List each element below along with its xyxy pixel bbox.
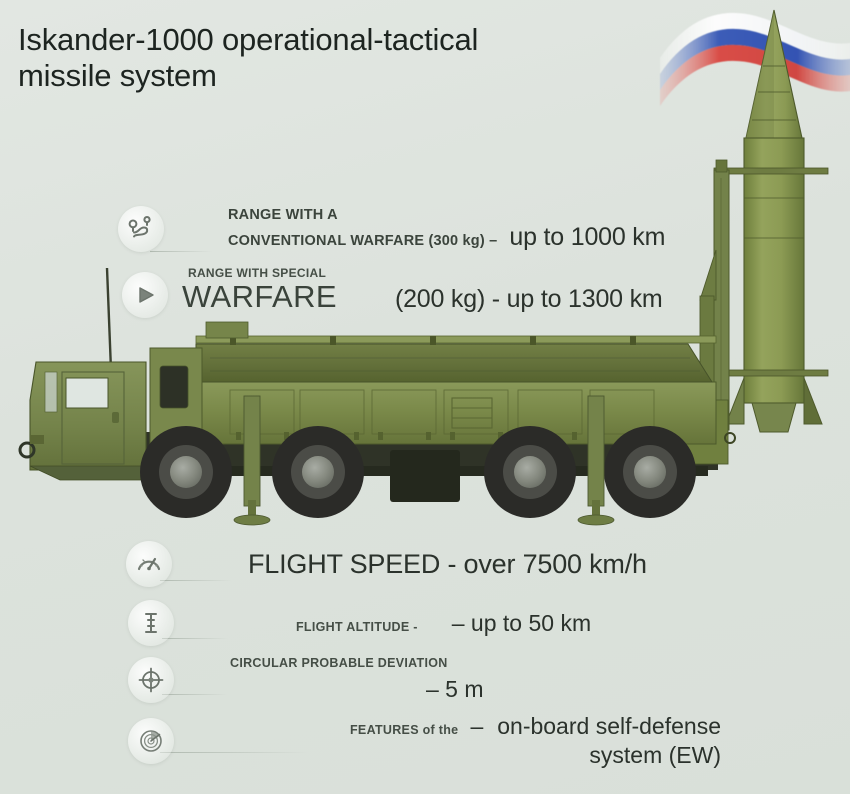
spec-value-features-line-1: on-board self-defense xyxy=(497,713,721,740)
spec-label-line-1: RANGE WITH A xyxy=(228,207,665,223)
infographic-poster: Iskander-1000 operational-tactical missi… xyxy=(0,0,850,794)
crosshair-target-icon xyxy=(128,657,174,703)
play-triangle-icon xyxy=(122,272,168,318)
rear-deck xyxy=(640,400,735,464)
spec-row-features: FEATURES of the – on-board self-defense … xyxy=(128,713,721,769)
spec-value-range-special: (200 kg) - up to 1300 km xyxy=(395,285,663,314)
spec-value-cep: – 5 m xyxy=(426,676,484,703)
wheel xyxy=(484,426,576,518)
page-title: Iskander-1000 operational-tactical missi… xyxy=(18,22,618,94)
wheel xyxy=(140,426,232,518)
driver-cab xyxy=(20,362,146,480)
outrigger-legs xyxy=(234,396,614,525)
title-line-2: missile system xyxy=(18,58,618,94)
spec-value-range-conventional: up to 1000 km xyxy=(509,223,665,252)
wheel xyxy=(604,426,696,518)
wheels-group xyxy=(140,426,696,518)
spec-row-cep: CIRCULAR PROBABLE DEVIATION – 5 m xyxy=(128,656,484,703)
outrigger-leg xyxy=(234,396,270,525)
spec-row-flight-speed: FLIGHT SPEED - over 7500 km/h xyxy=(126,541,647,587)
spec-row-flight-altitude: FLIGHT ALTITUDE - – up to 50 km xyxy=(128,600,591,646)
spec-label-flight-altitude: FLIGHT ALTITUDE - xyxy=(296,620,418,634)
spec-label-features: FEATURES of the xyxy=(350,723,458,737)
equipment-module xyxy=(150,348,202,444)
spec-label-flight-speed: FLIGHT SPEED - over 7500 km/h xyxy=(248,549,647,579)
spec-row-range-special: RANGE WITH SPECIAL WARFARE (200 kg) - up… xyxy=(122,272,663,318)
spec-label-range-special-small: RANGE WITH SPECIAL xyxy=(188,266,326,280)
launcher-container-upper xyxy=(196,322,716,382)
title-line-1: Iskander-1000 operational-tactical xyxy=(18,22,618,58)
outrigger-leg xyxy=(578,396,614,525)
spec-value-features-line-2: system (EW) xyxy=(497,742,721,769)
route-pins-icon xyxy=(118,206,164,252)
spec-row-range-conventional: RANGE WITH A CONVENTIONAL WARFARE (300 k… xyxy=(118,206,665,252)
spec-features-dash: – xyxy=(470,713,483,740)
spec-label-cep: CIRCULAR PROBABLE DEVIATION xyxy=(230,656,484,670)
speedometer-icon xyxy=(126,541,172,587)
spec-value-flight-altitude: – up to 50 km xyxy=(452,610,591,637)
russian-flag-ribbon xyxy=(656,0,850,106)
altitude-ruler-icon xyxy=(128,600,174,646)
spec-label-line-2: CONVENTIONAL WARFARE (300 kg) – xyxy=(228,233,497,249)
radar-sweep-icon xyxy=(128,718,174,764)
chassis-frame xyxy=(118,432,718,502)
launcher-body-lower xyxy=(196,382,716,444)
launch-rail-mast xyxy=(700,160,729,430)
antenna-mast xyxy=(105,268,114,376)
spec-label-warfare: WARFARE xyxy=(182,282,337,312)
wheel xyxy=(272,426,364,518)
